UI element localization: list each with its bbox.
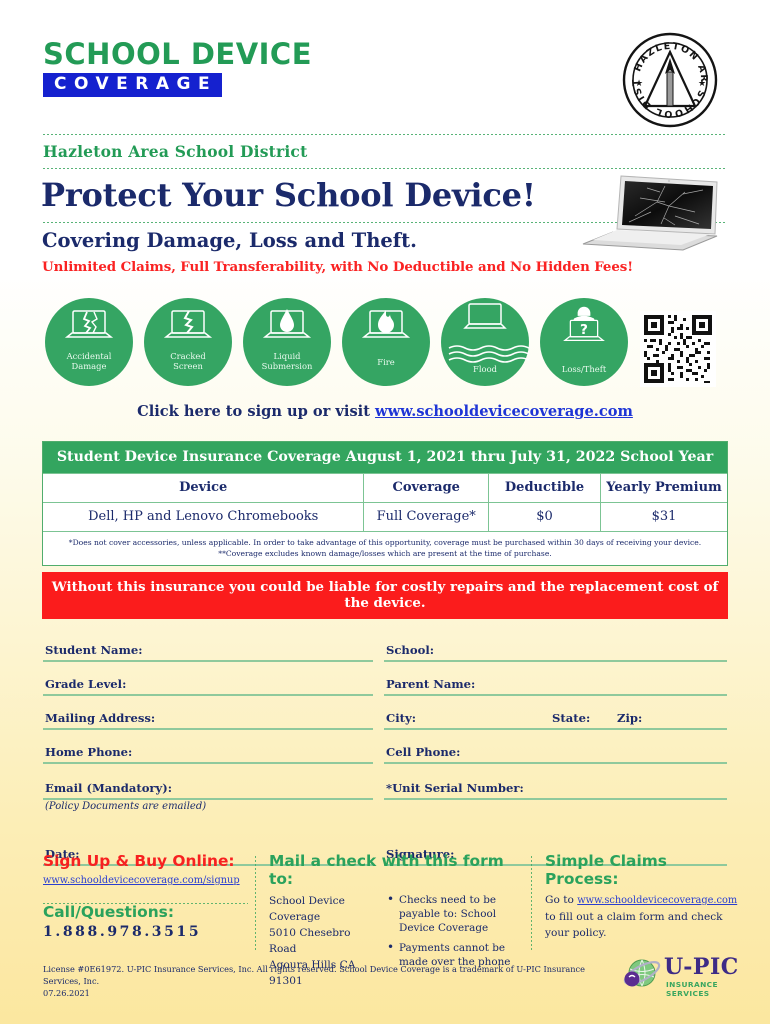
cell-coverage: Full Coverage* xyxy=(364,503,488,531)
fire-icon xyxy=(342,307,430,347)
column-header-deductible: Deductible xyxy=(489,474,601,502)
mail-heading: Mail a check with this form to: xyxy=(269,852,521,888)
mail-address-line: 5010 Chesebro Road xyxy=(269,925,379,957)
claims-text-after: to fill out a claim form and check your … xyxy=(545,909,745,941)
theft-question-icon: ? xyxy=(540,304,628,344)
form-row-email-note: (Policy Documents are emailed) xyxy=(43,800,727,832)
coverage-table-header-row: Device Coverage Deductible Yearly Premiu… xyxy=(43,473,727,502)
label-parent-name: Parent Name: xyxy=(386,677,475,691)
globe-icon xyxy=(622,955,662,995)
svg-text:?: ? xyxy=(580,322,588,338)
email-note: (Policy Documents are emailed) xyxy=(45,801,206,812)
qr-code-icon[interactable] xyxy=(640,311,716,387)
upic-wordmark: U-PIC xyxy=(664,954,739,980)
coverage-icon-label: Cracked xyxy=(144,351,232,361)
signup-cta-prefix: Click here to sign up or visit xyxy=(137,403,375,420)
footer-divider-1 xyxy=(255,856,256,952)
label-city: City: xyxy=(386,711,416,725)
divider-under-district xyxy=(43,168,727,169)
coverage-icon-label2: Damage xyxy=(45,361,133,371)
enrollment-form: Student Name: School: Grade Level: Paren… xyxy=(43,628,727,866)
label-cell-phone: Cell Phone: xyxy=(386,745,460,759)
flyer-page: SCHOOL DEVICE COVERAGE HAZLETON AREA SCH… xyxy=(0,0,770,1024)
license-line-1: License #0E61972. U-PIC Insurance Servic… xyxy=(43,963,613,987)
footer-divider-2 xyxy=(531,856,532,952)
label-serial-number: *Unit Serial Number: xyxy=(386,781,524,795)
coverage-icon-label2: Submersion xyxy=(243,361,331,371)
label-mailing-address: Mailing Address: xyxy=(45,711,155,725)
footnote-1: *Does not cover accessories, unless appl… xyxy=(53,537,717,548)
phone-number: 1.888.978.3515 xyxy=(43,924,248,940)
column-header-coverage: Coverage xyxy=(364,474,488,502)
cell-premium: $31 xyxy=(601,503,727,531)
brand-logo: SCHOOL DEVICE COVERAGE xyxy=(43,40,312,97)
coverage-icon-fire: Fire xyxy=(342,298,430,386)
brand-logo-top: SCHOOL DEVICE xyxy=(43,40,312,69)
license-text: License #0E61972. U-PIC Insurance Servic… xyxy=(43,963,613,999)
cracked-laptop-icon xyxy=(45,307,133,347)
label-grade-level: Grade Level: xyxy=(45,677,126,691)
footer-columns: Sign Up & Buy Online: www.schooldeviceco… xyxy=(43,852,731,956)
coverage-table-title: Student Device Insurance Coverage August… xyxy=(43,442,727,473)
coverage-icons: Accidental Damage Cracked Screen xyxy=(40,298,620,390)
label-home-phone: Home Phone: xyxy=(45,745,132,759)
cell-device: Dell, HP and Lenovo Chromebooks xyxy=(43,503,364,531)
signup-url-link[interactable]: www.schooldevicecoverage.com/signup xyxy=(43,875,240,886)
svg-text:★: ★ xyxy=(635,78,643,88)
form-row-student-name: Student Name: School: xyxy=(43,628,727,662)
claims-heading: Simple Claims Process: xyxy=(545,852,745,888)
divider-top xyxy=(43,134,727,135)
coverage-icon-accidental-damage: Accidental Damage xyxy=(45,298,133,386)
table-row: Dell, HP and Lenovo Chromebooks Full Cov… xyxy=(43,502,727,531)
warning-banner: Without this insurance you could be liab… xyxy=(42,572,728,619)
upic-logo: U-PIC INSURANCE SERVICES xyxy=(622,955,752,1001)
coverage-icon-cracked-screen: Cracked Screen xyxy=(144,298,232,386)
page-title: Protect Your School Device! xyxy=(41,176,536,214)
claims-url-link[interactable]: www.schooldevicecoverage.com xyxy=(577,895,737,906)
mail-address-line: School Device Coverage xyxy=(269,893,379,925)
coverage-icon-label: Flood xyxy=(441,364,529,374)
table-footnotes: *Does not cover accessories, unless appl… xyxy=(43,531,727,565)
coverage-icon-label2: Screen xyxy=(144,361,232,371)
district-name: Hazleton Area School District xyxy=(43,142,307,161)
column-header-device: Device xyxy=(43,474,364,502)
cell-deductible: $0 xyxy=(489,503,601,531)
list-item: Checks need to be payable to: School Dev… xyxy=(387,893,521,935)
upic-tagline: INSURANCE SERVICES xyxy=(666,980,752,998)
coverage-table: Student Device Insurance Coverage August… xyxy=(42,441,728,566)
form-row-grade-level: Grade Level: Parent Name: xyxy=(43,662,727,696)
svg-text:★: ★ xyxy=(698,78,706,88)
coverage-icon-label: Loss/Theft xyxy=(540,364,628,374)
footnote-2: **Coverage excludes known damage/losses … xyxy=(53,548,717,559)
footer-col-claims: Simple Claims Process: Go to www.schoold… xyxy=(545,852,745,941)
form-row-home-phone: Home Phone: Cell Phone: xyxy=(43,730,727,764)
label-state: State: xyxy=(552,711,590,725)
coverage-icon-flood: Flood xyxy=(441,298,529,386)
call-heading: Call/Questions: xyxy=(43,903,248,921)
coverage-icon-liquid-submersion: Liquid Submersion xyxy=(243,298,331,386)
label-student-name: Student Name: xyxy=(45,643,143,657)
liquid-drop-icon xyxy=(243,307,331,347)
flood-waves-icon xyxy=(441,302,529,342)
coverage-icon-label: Fire xyxy=(342,357,430,367)
signup-cta[interactable]: Click here to sign up or visit www.schoo… xyxy=(0,403,770,420)
claims-text-before: Go to xyxy=(545,894,577,906)
school-district-seal-icon: HAZLETON AREA SCHOOL DISTRICT ★ ★ xyxy=(615,28,725,132)
coverage-icon-loss-theft: ? Loss/Theft xyxy=(540,298,628,386)
cracked-laptop-photo xyxy=(565,172,730,254)
signup-cta-link[interactable]: www.schooldevicecoverage.com xyxy=(375,403,633,420)
coverage-icon-label: Liquid xyxy=(243,351,331,361)
form-row-address: Mailing Address: City: State: Zip: xyxy=(43,696,727,730)
form-row-email: Email (Mandatory): *Unit Serial Number: xyxy=(43,764,727,800)
label-zip: Zip: xyxy=(617,711,642,725)
waves-icon xyxy=(441,344,529,364)
page-subtitle: Covering Damage, Loss and Theft. xyxy=(42,229,417,252)
license-date: 07.26.2021 xyxy=(43,987,613,999)
signup-heading: Sign Up & Buy Online: xyxy=(43,852,248,870)
brand-logo-bottom: COVERAGE xyxy=(43,73,222,97)
label-school: School: xyxy=(386,643,434,657)
coverage-icon-label: Accidental xyxy=(45,351,133,361)
footer-col-signup: Sign Up & Buy Online: www.schooldeviceco… xyxy=(43,852,248,940)
tagline: Unlimited Claims, Full Transferability, … xyxy=(42,259,633,275)
column-header-premium: Yearly Premium xyxy=(601,474,727,502)
cracked-screen-icon xyxy=(144,307,232,347)
label-email: Email (Mandatory): xyxy=(45,781,172,795)
